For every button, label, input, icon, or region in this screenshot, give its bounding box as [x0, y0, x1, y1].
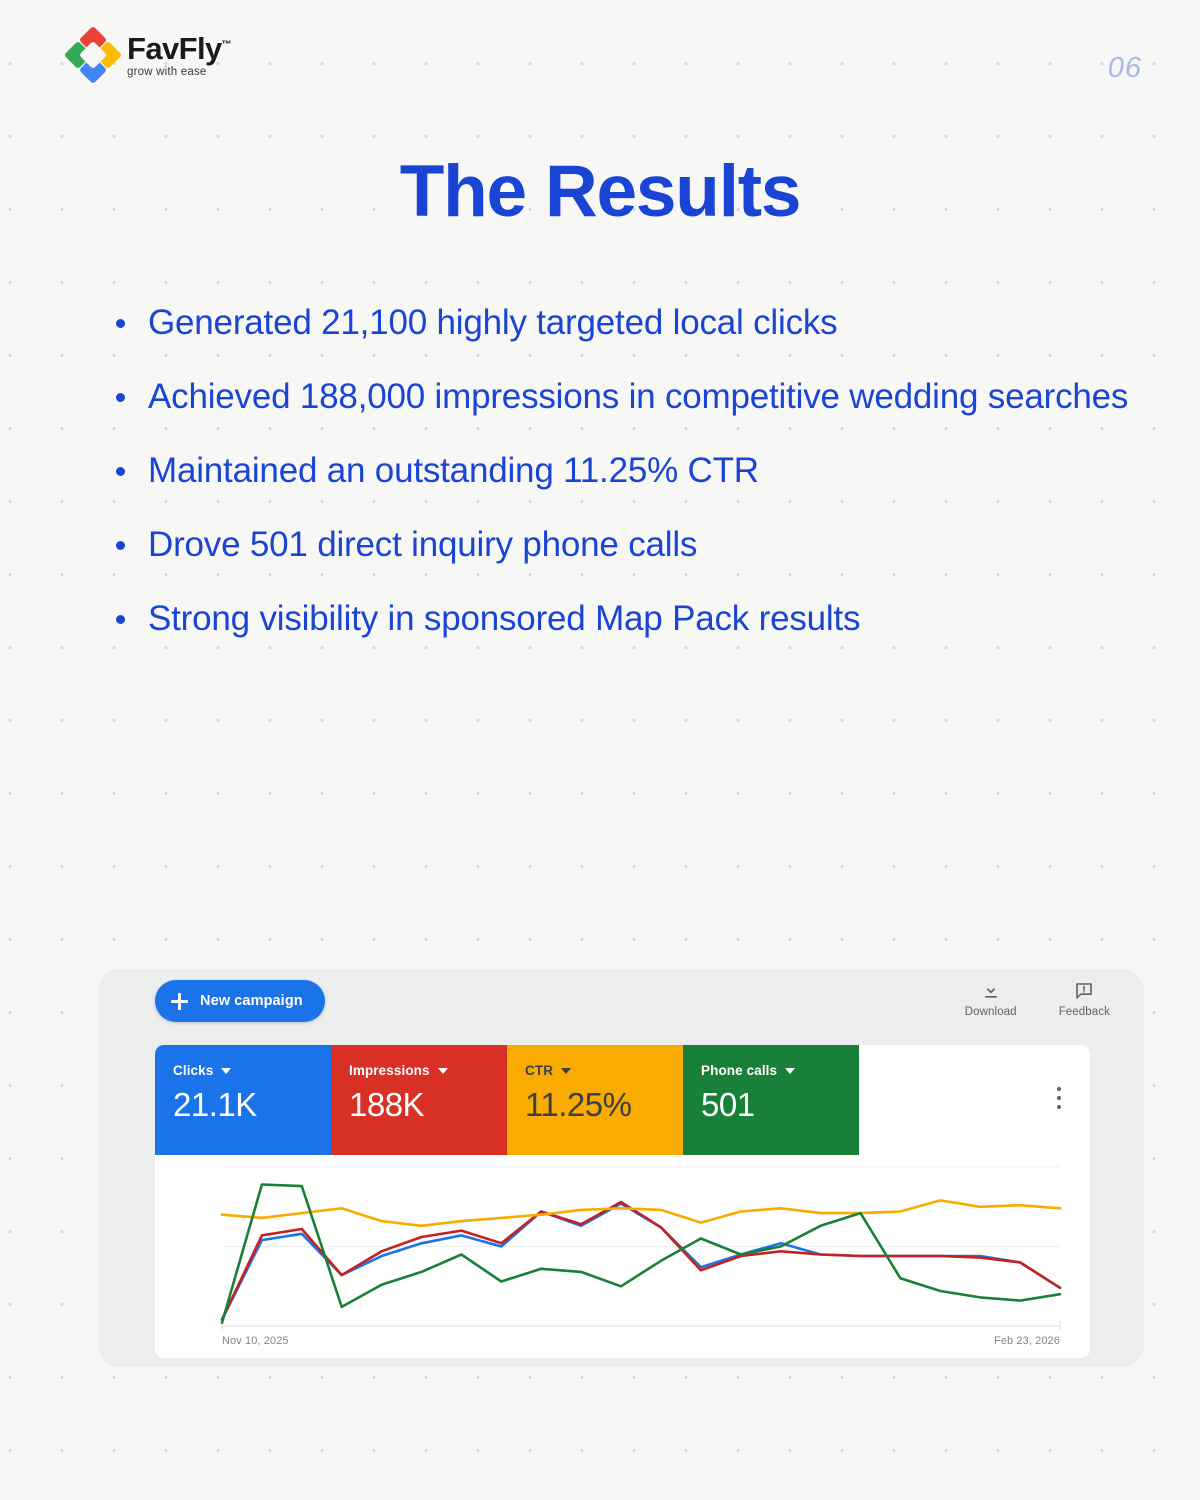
- feedback-label: Feedback: [1059, 1006, 1110, 1018]
- performance-line-chart: Nov 10, 2025 Feb 23, 2026: [155, 1155, 1090, 1358]
- results-bullet-list: Generated 21,100 highly targeted local c…: [104, 286, 1144, 656]
- chevron-down-icon: [785, 1068, 795, 1074]
- chevron-down-icon: [221, 1068, 231, 1074]
- chevron-down-icon: [438, 1068, 448, 1074]
- trademark-symbol: ™: [222, 40, 231, 51]
- chart-start-date: Nov 10, 2025: [222, 1335, 289, 1347]
- metric-label-phone-calls-text: Phone calls: [701, 1063, 777, 1078]
- brand-logo: FavFly™ grow with ease: [68, 30, 231, 80]
- list-item: Generated 21,100 highly targeted local c…: [104, 286, 1144, 360]
- metric-label-clicks[interactable]: Clicks: [173, 1063, 331, 1078]
- list-item: Achieved 188,000 impressions in competit…: [104, 360, 1144, 434]
- list-item: Maintained an outstanding 11.25% CTR: [104, 434, 1144, 508]
- chart-end-date: Feb 23, 2026: [994, 1335, 1060, 1347]
- metric-label-impressions-text: Impressions: [349, 1063, 430, 1078]
- page-number: 06: [1108, 52, 1142, 85]
- new-campaign-button[interactable]: New campaign: [155, 980, 325, 1022]
- metric-label-impressions[interactable]: Impressions: [349, 1063, 507, 1078]
- list-item: Drove 501 direct inquiry phone calls: [104, 508, 1144, 582]
- metric-tile-clicks[interactable]: Clicks 21.1K: [155, 1045, 331, 1155]
- chart-series-ctr: [222, 1200, 1060, 1225]
- chart-series-impressions: [222, 1202, 1060, 1320]
- google-ads-dashboard-card: New campaign Download: [98, 969, 1144, 1367]
- dashboard-panel: Clicks 21.1K Impressions 188K CTR 11.25%: [155, 1045, 1090, 1358]
- metric-label-ctr[interactable]: CTR: [525, 1063, 683, 1078]
- plus-icon: [171, 993, 188, 1010]
- list-item: Strong visibility in sponsored Map Pack …: [104, 582, 1144, 656]
- metric-value-impressions: 188K: [349, 1086, 507, 1124]
- more-vert-icon[interactable]: [1050, 1087, 1068, 1109]
- chart-series-phone-calls: [222, 1185, 1060, 1323]
- metric-tile-phone-calls[interactable]: Phone calls 501: [683, 1045, 859, 1155]
- new-campaign-label: New campaign: [200, 993, 303, 1009]
- brand-wordmark: FavFly™ grow with ease: [127, 32, 231, 78]
- feedback-icon: [1074, 981, 1094, 1001]
- metric-value-ctr: 11.25%: [525, 1086, 683, 1124]
- toolbar-actions: Download Feedback: [965, 981, 1110, 1018]
- download-button[interactable]: Download: [965, 981, 1017, 1018]
- download-icon: [981, 981, 1001, 1001]
- brand-name: FavFly™: [127, 33, 231, 64]
- metric-tile-ctr[interactable]: CTR 11.25%: [507, 1045, 683, 1155]
- metric-label-ctr-text: CTR: [525, 1063, 553, 1078]
- feedback-button[interactable]: Feedback: [1059, 981, 1110, 1018]
- metric-value-clicks: 21.1K: [173, 1086, 331, 1124]
- slide-header: FavFly™ grow with ease 06: [0, 0, 1200, 110]
- metric-tiles: Clicks 21.1K Impressions 188K CTR 11.25%: [155, 1045, 859, 1155]
- brand-tagline: grow with ease: [127, 66, 231, 78]
- download-label: Download: [965, 1006, 1017, 1018]
- metric-label-clicks-text: Clicks: [173, 1063, 213, 1078]
- page-title: The Results: [0, 150, 1200, 233]
- chevron-down-icon: [561, 1068, 571, 1074]
- metric-tile-impressions[interactable]: Impressions 188K: [331, 1045, 507, 1155]
- dashboard-toolbar: New campaign Download: [98, 969, 1144, 1045]
- chart-svg: [155, 1155, 1090, 1358]
- metric-label-phone-calls[interactable]: Phone calls: [701, 1063, 859, 1078]
- brand-name-text: FavFly: [127, 31, 222, 66]
- favfly-diamond-icon: [68, 30, 118, 80]
- metric-value-phone-calls: 501: [701, 1086, 859, 1124]
